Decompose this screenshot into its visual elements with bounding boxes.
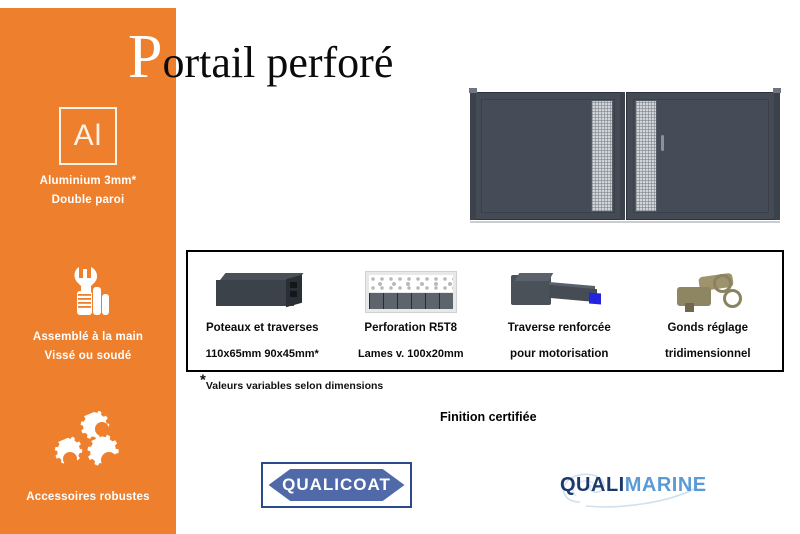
certification-heading: Finition certifiée (440, 410, 537, 424)
feature-reinforced-crossbar: Traverse renforcée pour motorisation (485, 252, 634, 370)
sidebar-caption-assembly-2: Vissé ou soudé (0, 347, 176, 366)
feature-label-posts-1: Poteaux et traverses (206, 318, 319, 339)
footnote-text: Valeurs variables selon dimensions (206, 380, 383, 392)
aluminium-profile-icon (216, 261, 308, 313)
feature-hinge: Gonds réglage tridimensionnel (634, 252, 783, 370)
qualicoat-logo-text: QUALICOAT (282, 475, 391, 495)
feature-posts-crossbars: Poteaux et traverses 110x65mm 90x45mm* (188, 252, 337, 370)
footnote: *Valeurs variables selon dimensions (200, 380, 383, 392)
sidebar-item-assembly: Assemblé à la main Vissé ou soudé (0, 256, 176, 366)
al-symbol-label: Al (74, 119, 103, 153)
sidebar-caption-accessories-1: Accessoires robustes (0, 488, 176, 507)
product-image-gate (468, 88, 784, 224)
gears-icon (0, 406, 176, 488)
page-title-rest: ortail perforé (162, 38, 393, 87)
page-title: Portail perforé (128, 26, 393, 88)
sidebar-caption-assembly-1: Assemblé à la main (0, 328, 176, 347)
feature-label-perforation-2: Lames v. 100x20mm (358, 344, 464, 365)
aluminium-al-symbol-icon: Al (0, 100, 176, 172)
feature-label-perforation-1: Perforation R5T8 (364, 318, 457, 339)
reinforced-crossbar-icon (509, 261, 609, 313)
qualimarine-logo: QUALIMARINE (546, 462, 714, 508)
qualimarine-logo-text-part1: QUALI (560, 474, 625, 496)
datasheet-page: Al Aluminium 3mm* Double paroi (0, 0, 800, 534)
page-title-initial: P (128, 23, 162, 91)
feature-perforation: Perforation R5T8 Lames v. 100x20mm (337, 252, 486, 370)
sidebar-caption-aluminium-1: Aluminium 3mm* (0, 172, 176, 191)
qualicoat-logo: QUALICOAT (261, 462, 412, 508)
sidebar-item-aluminium: Al Aluminium 3mm* Double paroi (0, 100, 176, 210)
features-box: Poteaux et traverses 110x65mm 90x45mm* P… (186, 250, 784, 372)
hinge-icon (673, 261, 743, 313)
perforated-slat-icon (365, 261, 457, 313)
feature-label-hinge-1: Gonds réglage (667, 318, 748, 339)
feature-label-hinge-2: tridimensionnel (665, 344, 751, 365)
sidebar-caption-aluminium-2: Double paroi (0, 191, 176, 210)
sidebar-item-accessories: Accessoires robustes (0, 406, 176, 507)
feature-label-crossbar-1: Traverse renforcée (508, 318, 611, 339)
hand-wrench-icon (0, 256, 176, 328)
feature-label-posts-2: 110x65mm 90x45mm* (206, 344, 319, 365)
feature-label-crossbar-2: pour motorisation (510, 344, 608, 365)
qualimarine-logo-text-part2: MARINE (625, 474, 707, 496)
